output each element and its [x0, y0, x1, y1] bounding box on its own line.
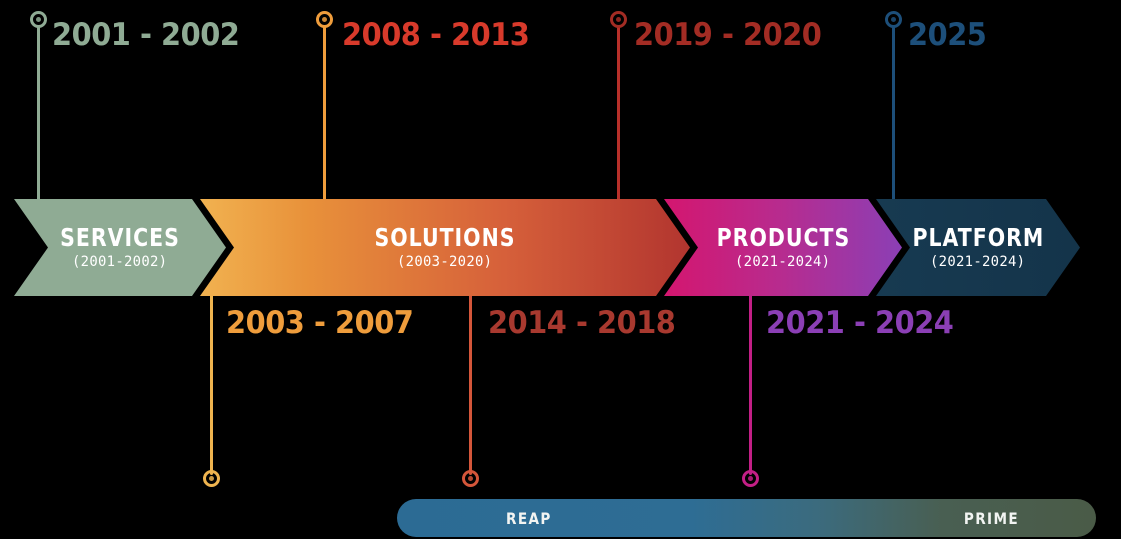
connector-dot[interactable]: [742, 470, 759, 487]
program-bar-label-prime: PRIME: [964, 509, 1019, 528]
milestone-label-2008-2013: 2008 - 2013: [342, 17, 529, 53]
connector-dot[interactable]: [316, 11, 333, 28]
phase-years: (2001-2002): [72, 254, 167, 270]
connector-line: [323, 26, 326, 202]
connector-dot[interactable]: [203, 470, 220, 487]
connector-dot[interactable]: [462, 470, 479, 487]
milestone-label-2003-2007: 2003 - 2007: [226, 305, 413, 341]
connector-line: [469, 293, 472, 475]
phase-title: SOLUTIONS: [375, 225, 516, 251]
phase-chevron-solutions[interactable]: SOLUTIONS (2003-2020): [200, 199, 690, 296]
program-bar-label-reap: REAP: [506, 509, 552, 528]
milestone-label-2025: 2025: [908, 17, 986, 53]
connector-line: [749, 293, 752, 475]
phase-title: PLATFORM: [912, 225, 1044, 251]
timeline-diagram: 2001 - 2002 2008 - 2013 2019 - 2020 2025…: [0, 0, 1121, 539]
phase-band: PLATFORM (2021-2024) PRODUCTS (2021-2024…: [14, 199, 1080, 296]
connector-line: [210, 293, 213, 475]
phase-title: PRODUCTS: [716, 225, 850, 251]
connector-dot[interactable]: [610, 11, 627, 28]
phase-years: (2003-2020): [397, 254, 492, 270]
program-bar[interactable]: REAP PRIME: [397, 499, 1096, 537]
phase-chevron-services[interactable]: SERVICES (2001-2002): [14, 199, 226, 296]
phase-title: SERVICES: [60, 225, 180, 251]
connector-dot[interactable]: [885, 11, 902, 28]
connector-line: [37, 26, 40, 202]
phase-chevron-platform[interactable]: PLATFORM (2021-2024): [876, 199, 1080, 296]
connector-line: [892, 26, 895, 202]
connector-dot[interactable]: [30, 11, 47, 28]
milestone-label-2014-2018: 2014 - 2018: [488, 305, 675, 341]
phase-chevron-products[interactable]: PRODUCTS (2021-2024): [664, 199, 902, 296]
milestone-label-2021-2024: 2021 - 2024: [766, 305, 953, 341]
connector-line: [617, 26, 620, 202]
phase-years: (2021-2024): [930, 254, 1025, 270]
milestone-label-2019-2020: 2019 - 2020: [634, 17, 821, 53]
milestone-label-2001-2002: 2001 - 2002: [52, 17, 239, 53]
phase-years: (2021-2024): [735, 254, 830, 270]
